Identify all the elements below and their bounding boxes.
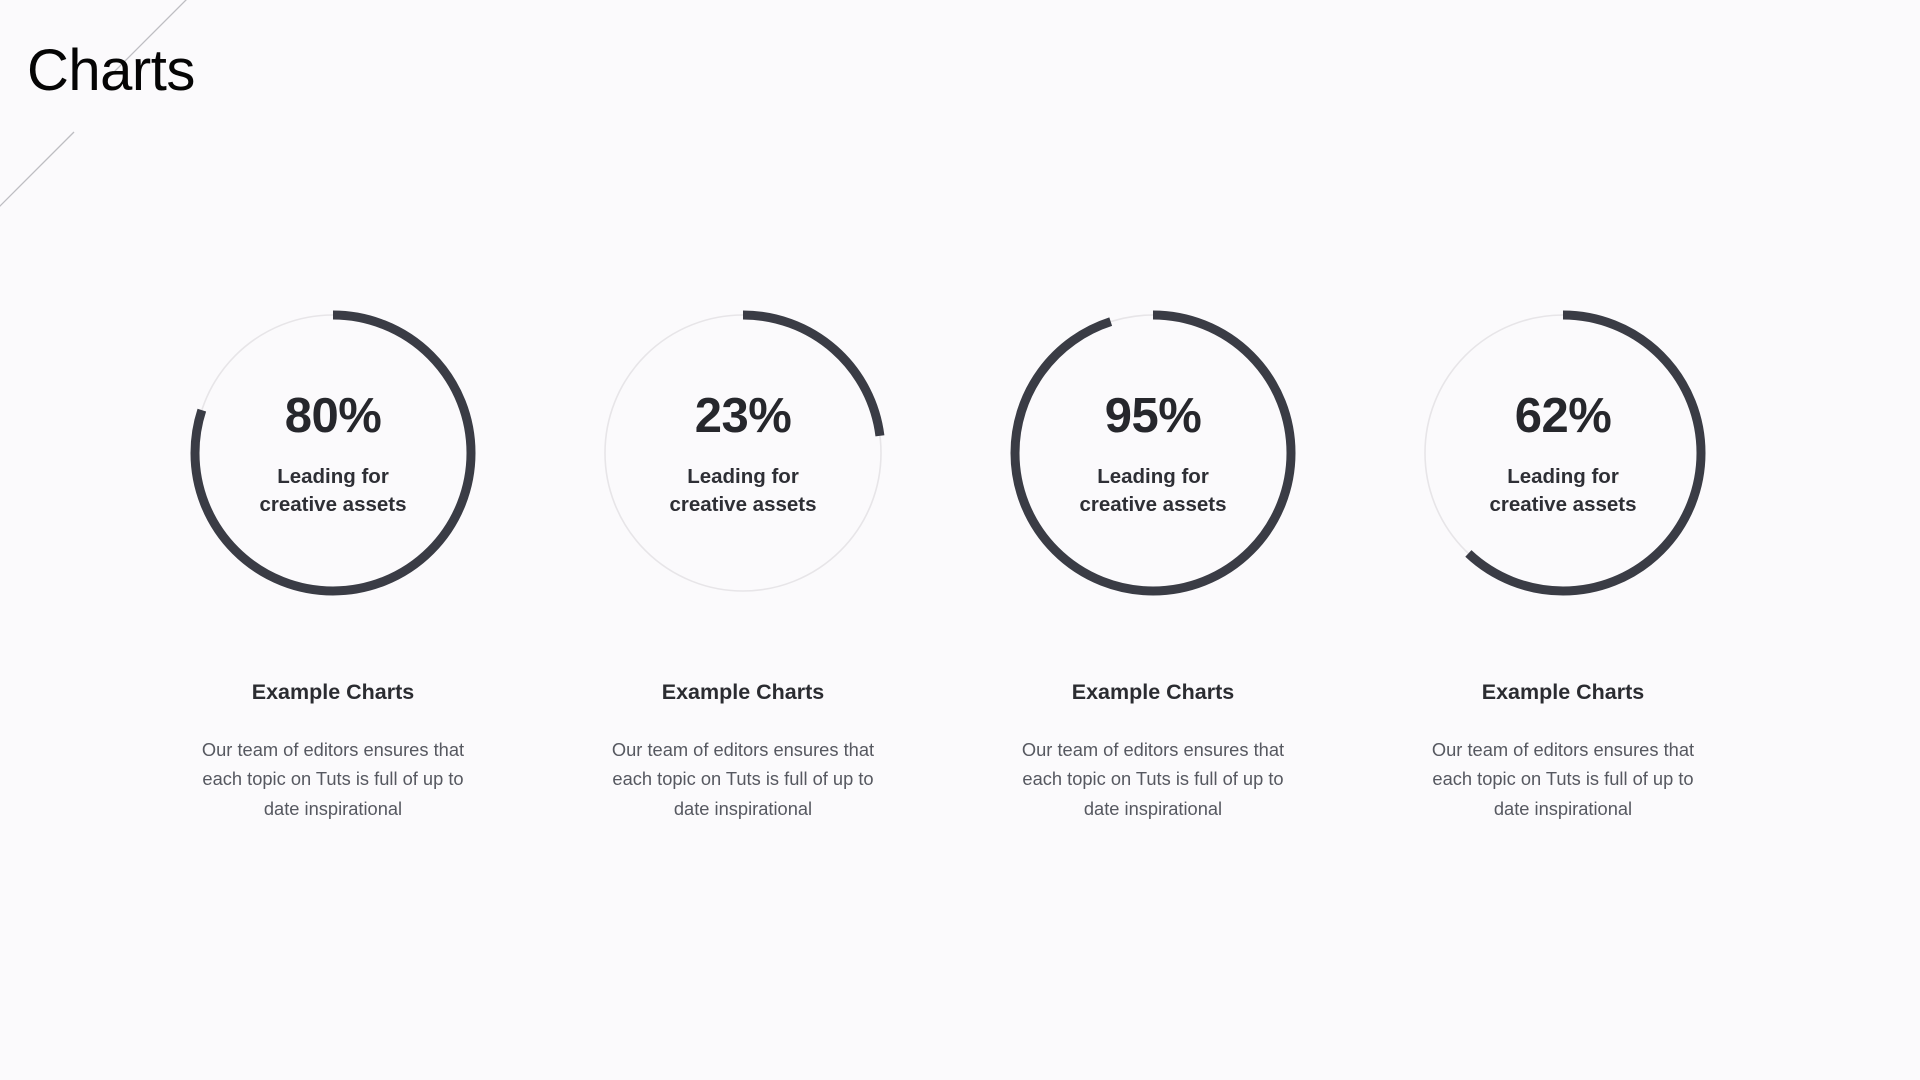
caption-body: Our team of editors ensures that each to… (168, 735, 498, 824)
donut-percent-value: 80% (285, 392, 382, 441)
chart-card[interactable]: 95% Leading for creative assets Example … (948, 310, 1358, 823)
donut-chart[interactable]: 23% Leading for creative assets (600, 310, 886, 596)
page-title: Charts (27, 42, 195, 100)
caption-body: Our team of editors ensures that each to… (578, 735, 908, 824)
caption-body: Our team of editors ensures that each to… (988, 735, 1318, 824)
donut-percent-value: 95% (1105, 392, 1202, 441)
donut-center-content: 62% Leading for creative assets (1420, 310, 1706, 596)
caption-title: Example Charts (1072, 682, 1235, 704)
chart-card[interactable]: 80% Leading for creative assets Example … (128, 310, 538, 823)
donut-inner-label: Leading for creative assets (1489, 463, 1636, 518)
caption-title: Example Charts (252, 682, 415, 704)
donut-chart[interactable]: 95% Leading for creative assets (1010, 310, 1296, 596)
caption-body: Our team of editors ensures that each to… (1398, 735, 1728, 824)
donut-percent-value: 23% (695, 392, 792, 441)
donut-inner-label: Leading for creative assets (259, 463, 406, 518)
donut-center-content: 80% Leading for creative assets (190, 310, 476, 596)
charts-row: 80% Leading for creative assets Example … (0, 310, 1920, 823)
donut-inner-label: Leading for creative assets (669, 463, 816, 518)
chart-card[interactable]: 62% Leading for creative assets Example … (1358, 310, 1768, 823)
diagonal-line-lower (0, 132, 74, 216)
donut-percent-value: 62% (1515, 392, 1612, 441)
caption-title: Example Charts (662, 682, 825, 704)
donut-center-content: 95% Leading for creative assets (1010, 310, 1296, 596)
caption-title: Example Charts (1482, 682, 1645, 704)
donut-chart[interactable]: 62% Leading for creative assets (1420, 310, 1706, 596)
chart-card[interactable]: 23% Leading for creative assets Example … (538, 310, 948, 823)
donut-inner-label: Leading for creative assets (1079, 463, 1226, 518)
donut-center-content: 23% Leading for creative assets (600, 310, 886, 596)
donut-chart[interactable]: 80% Leading for creative assets (190, 310, 476, 596)
